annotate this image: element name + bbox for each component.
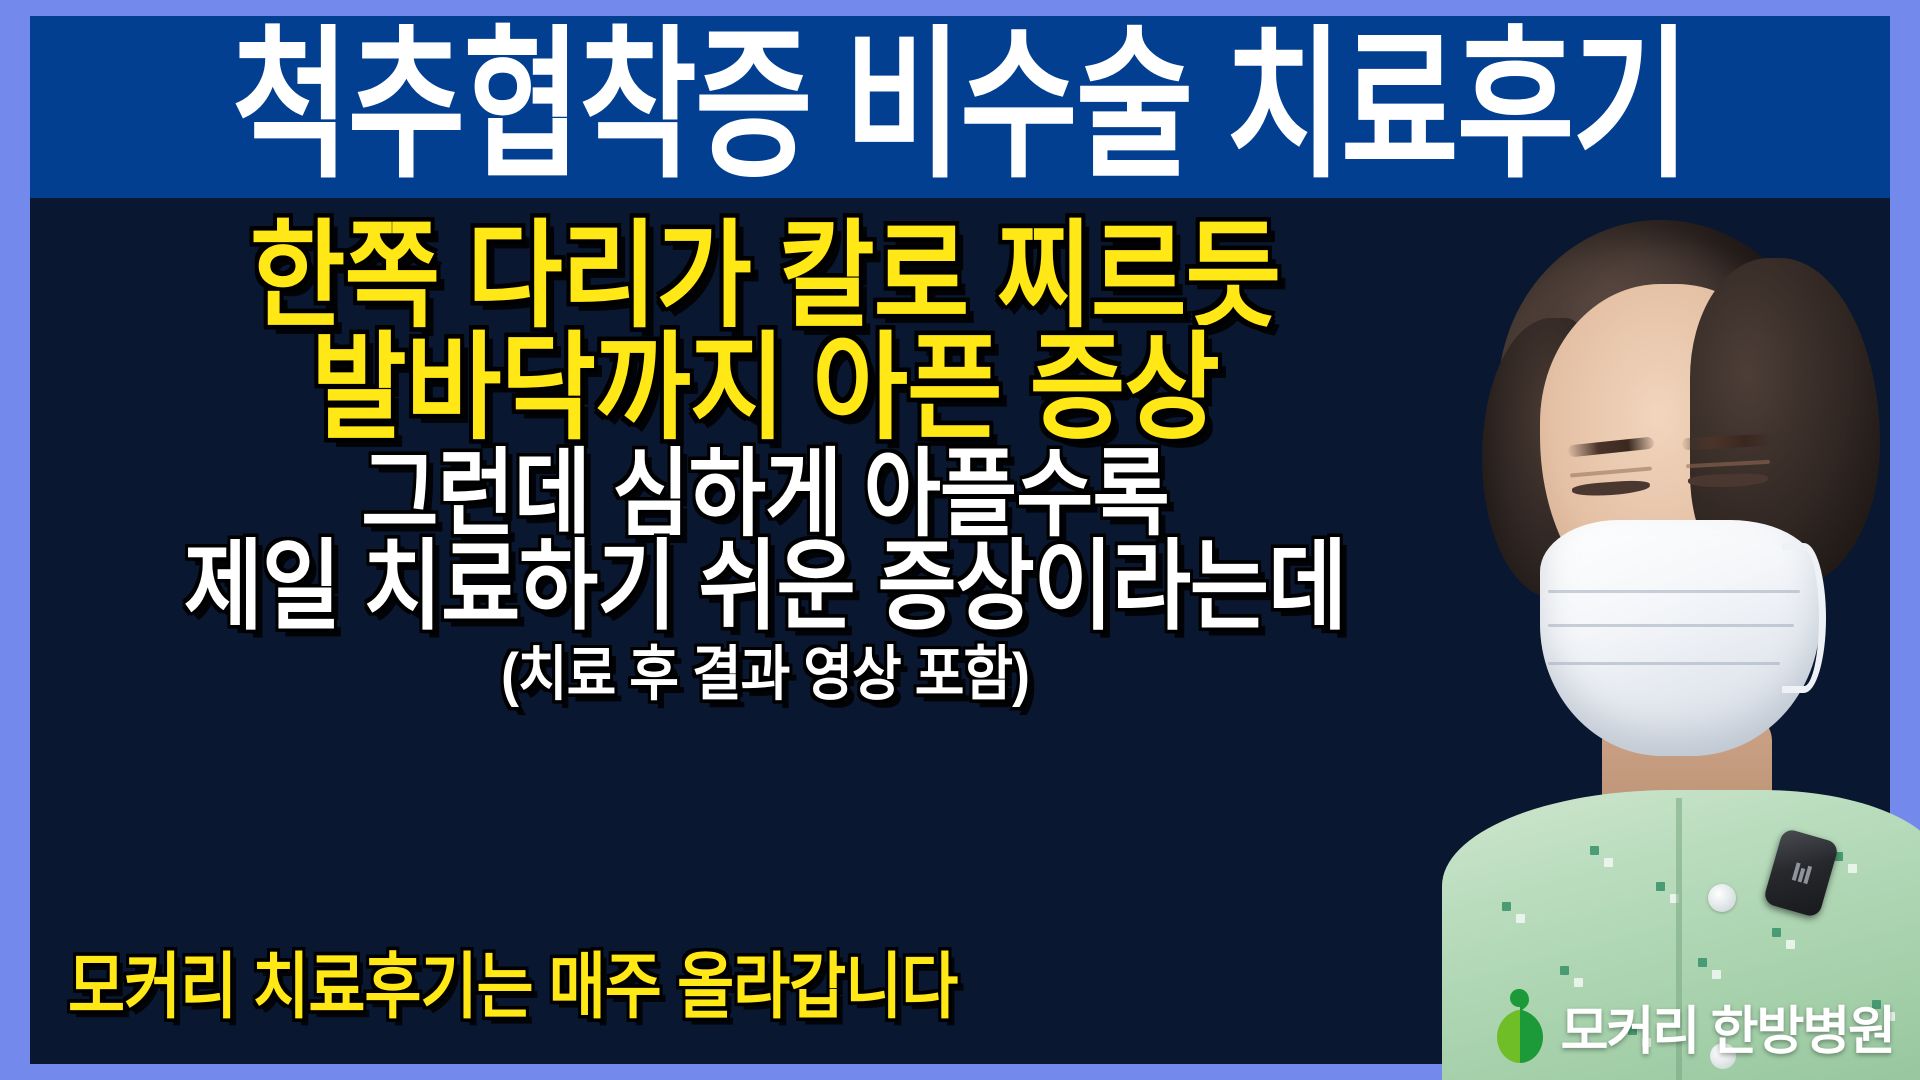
title-banner: 척추협착증 비수술 치료후기 — [30, 16, 1890, 198]
mokurri-leaf-person-icon — [1493, 986, 1547, 1066]
hospital-logo-text: 모커리 한방병원 — [1561, 989, 1894, 1064]
hospital-logo: 모커리 한방병원 — [1493, 986, 1894, 1066]
photo-canvas — [1390, 198, 1920, 1080]
mask-ear-strap — [1782, 543, 1826, 693]
youtube-thumbnail: 척추협착증 비수술 치료후기 한쪽 다리가 칼로 찌르듯 발바닥까지 아픈 증상… — [0, 0, 1920, 1080]
face-mask — [1540, 520, 1820, 756]
patient-photo — [1390, 198, 1920, 1080]
shirt-button-top — [1708, 884, 1736, 912]
title-text: 척추협착증 비수술 치료후기 — [232, 25, 1688, 189]
bottom-banner-text: 모커리 치료후기는 매주 올라갑니다 — [68, 928, 957, 1032]
